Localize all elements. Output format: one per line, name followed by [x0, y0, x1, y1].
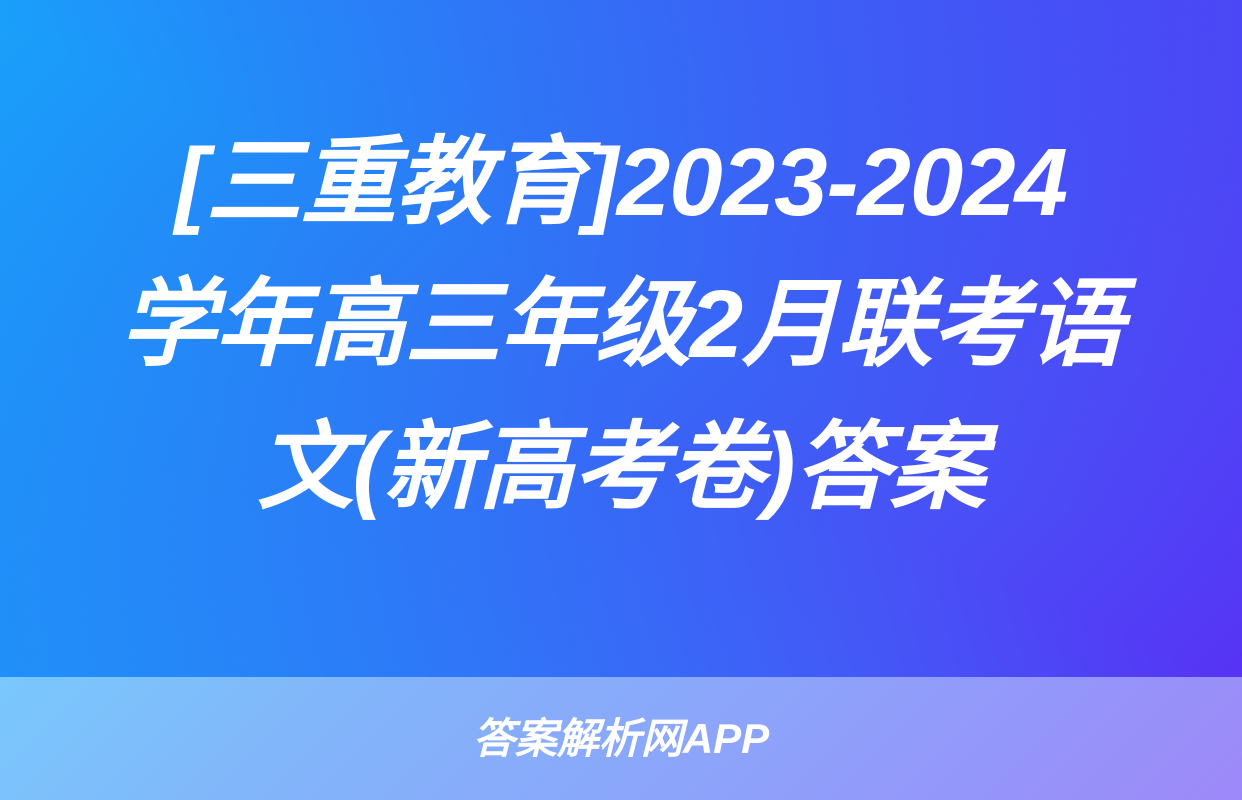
title-line-1: [三重教育]2023-2024 [71, 112, 1171, 254]
title-line-3: 文(新高考卷)答案 [71, 397, 1171, 539]
title-block: [三重教育]2023-2024 学年高三年级2月联考语 文(新高考卷)答案 [0, 0, 1242, 677]
footer-band: 答案解析网APP [0, 677, 1242, 800]
title-line-2: 学年高三年级2月联考语 [71, 254, 1171, 396]
brand-watermark: 答案解析网APP [473, 718, 769, 760]
cover-card: [三重教育]2023-2024 学年高三年级2月联考语 文(新高考卷)答案 答案… [0, 0, 1242, 800]
footer-content: 答案解析网APP [0, 677, 1242, 800]
